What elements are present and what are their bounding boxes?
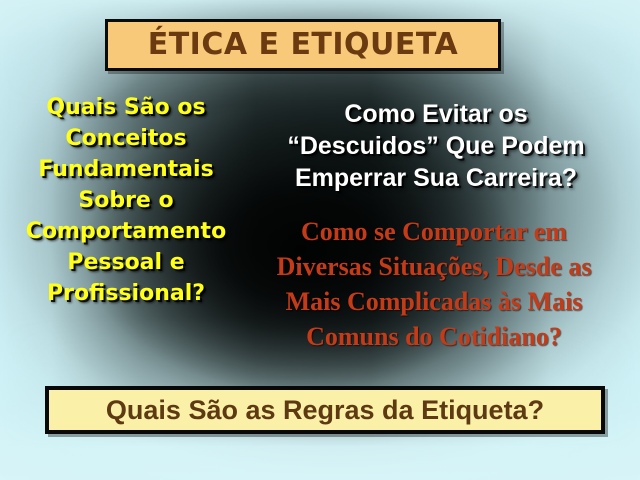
right-paragraph-line: Como se Comportar em <box>232 214 636 249</box>
left-question-line: Fundamentais <box>6 154 246 185</box>
left-question-line: Quais São os <box>6 92 246 123</box>
right-paragraph-line: Comuns do Cotidiano? <box>232 319 636 354</box>
right-paragraph-block: Como se Comportar em Diversas Situações,… <box>232 214 636 354</box>
left-question-block: Quais São os Conceitos Fundamentais Sobr… <box>6 92 246 309</box>
bottom-banner: Quais São as Regras da Etiqueta? <box>45 386 605 434</box>
bottom-banner-text: Quais São as Regras da Etiqueta? <box>106 397 544 424</box>
right-paragraph-line: Mais Complicadas às Mais <box>232 284 636 319</box>
right-paragraph-line: Diversas Situações, Desde as <box>232 249 636 284</box>
left-question-line: Sobre o <box>6 185 246 216</box>
right-heading-block: Como Evitar os “Descuidos” Que Podem Emp… <box>236 98 636 194</box>
title-text: ÉTICA E ETIQUETA <box>148 30 459 60</box>
left-question-line: Comportamento <box>6 216 246 247</box>
right-heading-line: “Descuidos” Que Podem <box>236 130 636 162</box>
left-question-line: Conceitos <box>6 123 246 154</box>
right-heading-line: Como Evitar os <box>236 98 636 130</box>
left-question-line: Pessoal e <box>6 247 246 278</box>
left-question-line: Profissional? <box>6 278 246 309</box>
presentation-slide: ÉTICA E ETIQUETA Quais São os Conceitos … <box>0 0 640 480</box>
right-heading-line: Emperrar Sua Carreira? <box>236 162 636 194</box>
title-banner: ÉTICA E ETIQUETA <box>105 19 501 71</box>
